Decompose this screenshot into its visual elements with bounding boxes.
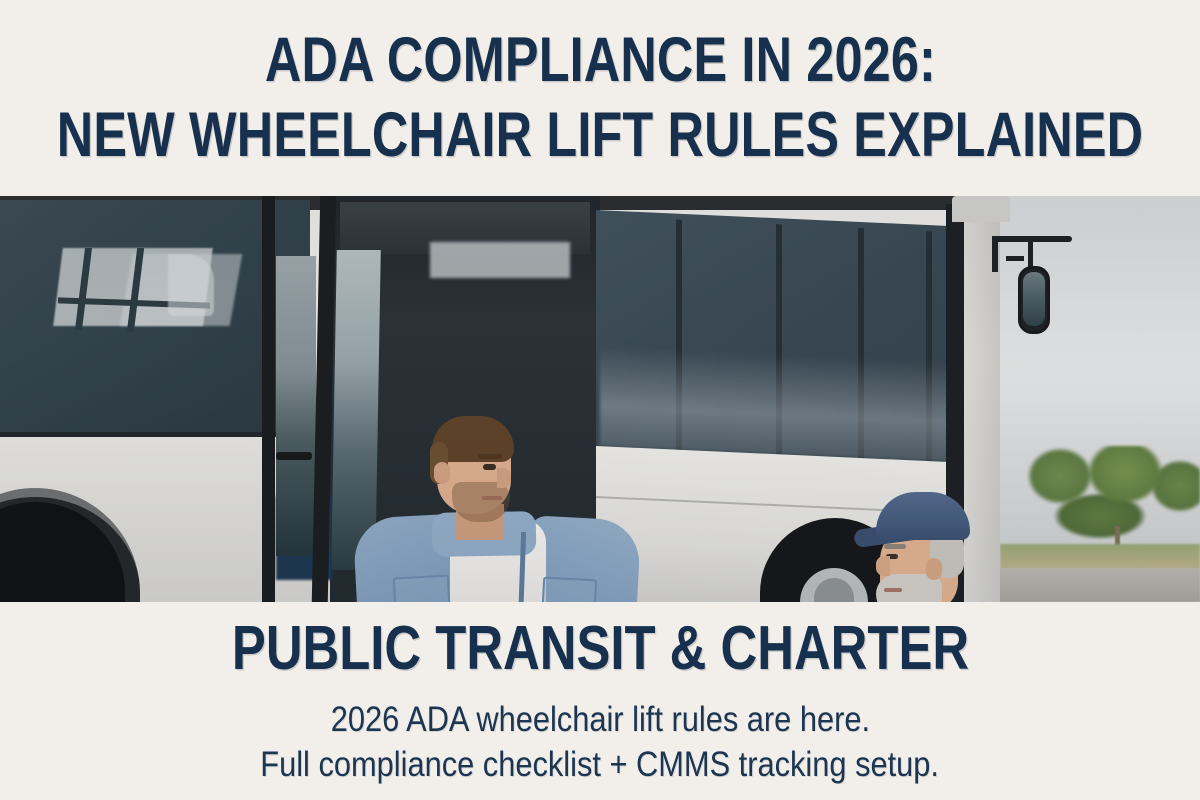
- footer-block: PUBLIC TRANSIT & CHARTER 2026 ADA wheelc…: [0, 602, 1200, 800]
- passenger-eyebrow: [478, 454, 502, 459]
- mirror-arm-drop: [1028, 240, 1033, 268]
- ada-compliance-poster: ADA COMPLIANCE IN 2026: NEW WHEELCHAIR L…: [0, 0, 1200, 800]
- mirror-arm-vertical: [992, 236, 998, 272]
- bus-roof-cap: [952, 196, 1010, 222]
- driver-eyebrow: [884, 544, 906, 549]
- headline-line-2: NEW WHEELCHAIR LIFT RULES EXPLAINED: [57, 104, 1143, 167]
- window-reflection-shape: [168, 254, 214, 316]
- footer-heading: PUBLIC TRANSIT & CHARTER: [231, 618, 968, 680]
- driver-nose: [876, 556, 890, 576]
- door-glass-left: [276, 256, 316, 556]
- door-post-left: [262, 196, 275, 602]
- passenger-ear: [434, 462, 450, 484]
- driver-mouth: [884, 588, 902, 592]
- footer-subline-1: 2026 ADA wheelchair lift rules are here.: [330, 698, 869, 743]
- passenger-nose: [497, 468, 511, 488]
- driver-ear: [926, 558, 942, 580]
- door-glass-mid: [331, 250, 381, 570]
- headline-line-1: ADA COMPLIANCE IN 2026:: [264, 29, 935, 92]
- road-surface: [980, 568, 1200, 602]
- door-handle: [276, 452, 312, 460]
- hero-photo: [0, 196, 1200, 602]
- passenger-jacket-pocket-left: [393, 575, 451, 602]
- headline-block: ADA COMPLIANCE IN 2026: NEW WHEELCHAIR L…: [0, 0, 1200, 196]
- treeline: [1020, 446, 1200, 556]
- footer-subline-2: Full compliance checklist + CMMS trackin…: [261, 743, 940, 788]
- passenger-stubble: [452, 482, 510, 522]
- bus-interior-panel: [430, 242, 570, 278]
- mirror-stub: [1006, 256, 1024, 261]
- side-mirror-glass: [1023, 272, 1045, 326]
- passenger-eye: [483, 464, 496, 470]
- passenger-jacket-pocket-right: [541, 577, 597, 602]
- passenger-mouth: [482, 496, 502, 500]
- window-reflection-right: [600, 346, 990, 464]
